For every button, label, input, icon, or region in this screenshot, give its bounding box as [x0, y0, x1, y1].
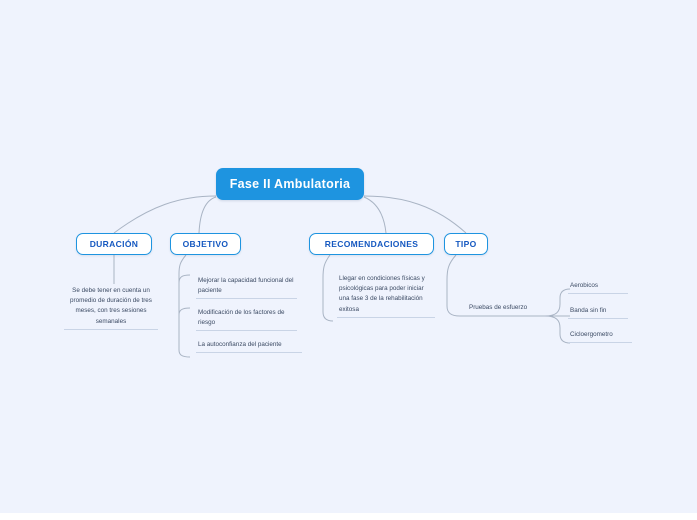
connector-pruebas-cicloergometro [545, 316, 570, 343]
connector-lines [0, 0, 697, 513]
connector-root-recomendaciones [364, 197, 386, 233]
branch-node-duracion[interactable]: DURACIÓN [76, 233, 152, 255]
leaf-node-cicloergometro[interactable]: Cicloergometro [568, 330, 632, 343]
mindmap-canvas: Fase II Ambulatoria DURACIÓN OBJETIVO RE… [0, 0, 697, 513]
leaf-node-duracion-1[interactable]: Se debe tener en cuenta un promedio de d… [64, 286, 158, 330]
branch-node-tipo[interactable]: TIPO [444, 233, 488, 255]
canvas-bottom-edge [0, 513, 697, 520]
connector-objetivo-leaf1 [179, 275, 190, 283]
leaf-node-objetivo-2[interactable]: Modificación de los factores de riesgo [196, 308, 297, 331]
branch-node-label: RECOMENDACIONES [325, 239, 419, 249]
leaf-node-objetivo-3[interactable]: La autoconfianza del paciente [196, 340, 302, 353]
connector-recomendaciones-leaf [323, 255, 333, 321]
leaf-node-objetivo-1[interactable]: Mejorar la capacidad funcional del pacie… [196, 276, 297, 299]
leaf-node-recomendaciones-1[interactable]: Llegar en condiciones físicas y psicológ… [337, 274, 435, 318]
root-node-label: Fase II Ambulatoria [230, 177, 351, 191]
connector-root-duracion [114, 196, 216, 233]
connector-objetivo-spine [179, 255, 190, 357]
leaf-node-pruebas-de-esfuerzo[interactable]: Pruebas de esfuerzo [467, 303, 542, 315]
branch-node-objetivo[interactable]: OBJETIVO [170, 233, 241, 255]
leaf-node-banda-sin-fin[interactable]: Banda sin fin [568, 306, 628, 319]
root-node[interactable]: Fase II Ambulatoria [216, 168, 364, 200]
connector-tipo-pruebas [447, 255, 460, 316]
connector-root-objetivo [199, 197, 216, 233]
leaf-node-aerobicos[interactable]: Aerobicos [568, 281, 628, 294]
connector-objetivo-leaf2 [179, 308, 190, 315]
branch-node-label: OBJETIVO [183, 239, 229, 249]
connector-pruebas-aerobicos [545, 289, 570, 316]
branch-node-label: TIPO [455, 239, 476, 249]
connector-root-tipo [364, 196, 466, 233]
branch-node-label: DURACIÓN [90, 239, 139, 249]
branch-node-recomendaciones[interactable]: RECOMENDACIONES [309, 233, 434, 255]
